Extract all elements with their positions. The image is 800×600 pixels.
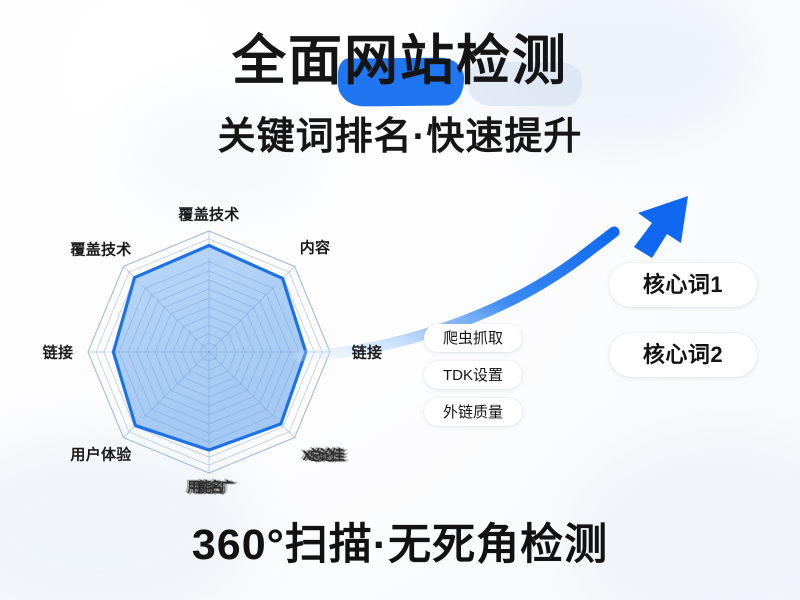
radar-axis-label-5: 用户体验 [70,448,131,463]
keyword-pill-1[interactable]: 核心词1 [609,263,757,307]
check-pill-1[interactable]: 爬虫抓取 [424,324,522,352]
check-pill-3[interactable]: 外链质量 [424,398,522,426]
radar-axis-label-3: X总论佳 [302,448,341,462]
headline-part-3: 检测 [456,31,568,91]
radar-axis-label-4: 用能名广 [187,480,231,494]
footer-text: 360°扫描·无死角检测 [0,524,800,567]
radar-inner-rings [115,258,303,446]
headline-part-2-highlighted: 网站 [344,31,456,91]
radar-axis-label-7: 覆盖技术 [70,243,131,258]
headline-part-1: 全面 [232,31,344,91]
radar-axis-label-1: 内容 [300,241,331,256]
check-pill-2[interactable]: TDK设置 [424,361,522,389]
radar-data-area [113,246,305,450]
headline-text: 全面网站检测 [232,34,568,88]
radar-axis-label-6: 链接 [43,346,74,361]
poster-canvas: 全面网站检测 关键词排名·快速提升 覆盖技术内容 [0,0,800,600]
arrow-head-icon [634,196,688,258]
radar-axis-label-2: 链接 [352,346,383,361]
radar-axis-label-0: 覆盖技术 [178,208,239,223]
keyword-pill-2[interactable]: 核心词2 [609,333,757,377]
